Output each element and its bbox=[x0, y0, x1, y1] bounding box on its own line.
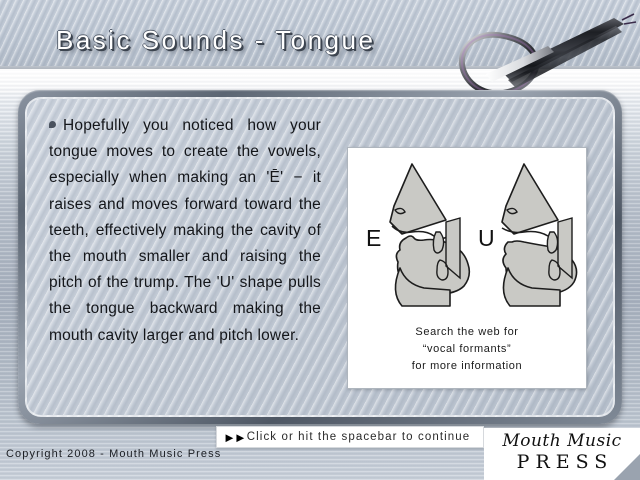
figure-label-right: U bbox=[478, 225, 495, 251]
continue-button[interactable]: ►► Click or hit the spacebar to continue bbox=[216, 426, 484, 448]
figure-label-left: E bbox=[366, 225, 381, 251]
body-text: Hopefully you noticed how your tongue mo… bbox=[49, 117, 321, 344]
page-title: Basic Sounds - Tongue bbox=[56, 25, 375, 56]
figure-caption-line-3: for more information bbox=[348, 358, 586, 375]
logo-corner-wedge bbox=[614, 454, 640, 480]
logo-script-text: Mouth Music bbox=[484, 431, 640, 451]
copyright-notice: Copyright 2008 - Mouth Music Press bbox=[6, 448, 221, 460]
content-panel-frame: Hopefully you noticed how your tongue mo… bbox=[18, 90, 622, 424]
double-right-arrow-icon: ►► bbox=[223, 431, 245, 444]
continue-label: Click or hit the spacebar to continue bbox=[247, 431, 471, 443]
slide-canvas: Basic Sounds - Tongue Hopefully you noti… bbox=[0, 0, 640, 480]
mouth-music-press-logo: Mouth Music PRESS bbox=[484, 428, 640, 480]
bullet-dot-icon bbox=[49, 121, 56, 128]
figure-card: E U Search the web for “vocal formants” … bbox=[347, 147, 587, 389]
mouth-cross-section-icon: E U bbox=[348, 148, 586, 323]
figure-caption-line-2: “vocal formants” bbox=[348, 341, 586, 358]
figure-caption: Search the web for “vocal formants” for … bbox=[348, 324, 586, 375]
content-panel: Hopefully you noticed how your tongue mo… bbox=[25, 97, 615, 417]
figure-caption-line-1: Search the web for bbox=[348, 324, 586, 341]
body-paragraph: Hopefully you noticed how your tongue mo… bbox=[49, 113, 321, 349]
